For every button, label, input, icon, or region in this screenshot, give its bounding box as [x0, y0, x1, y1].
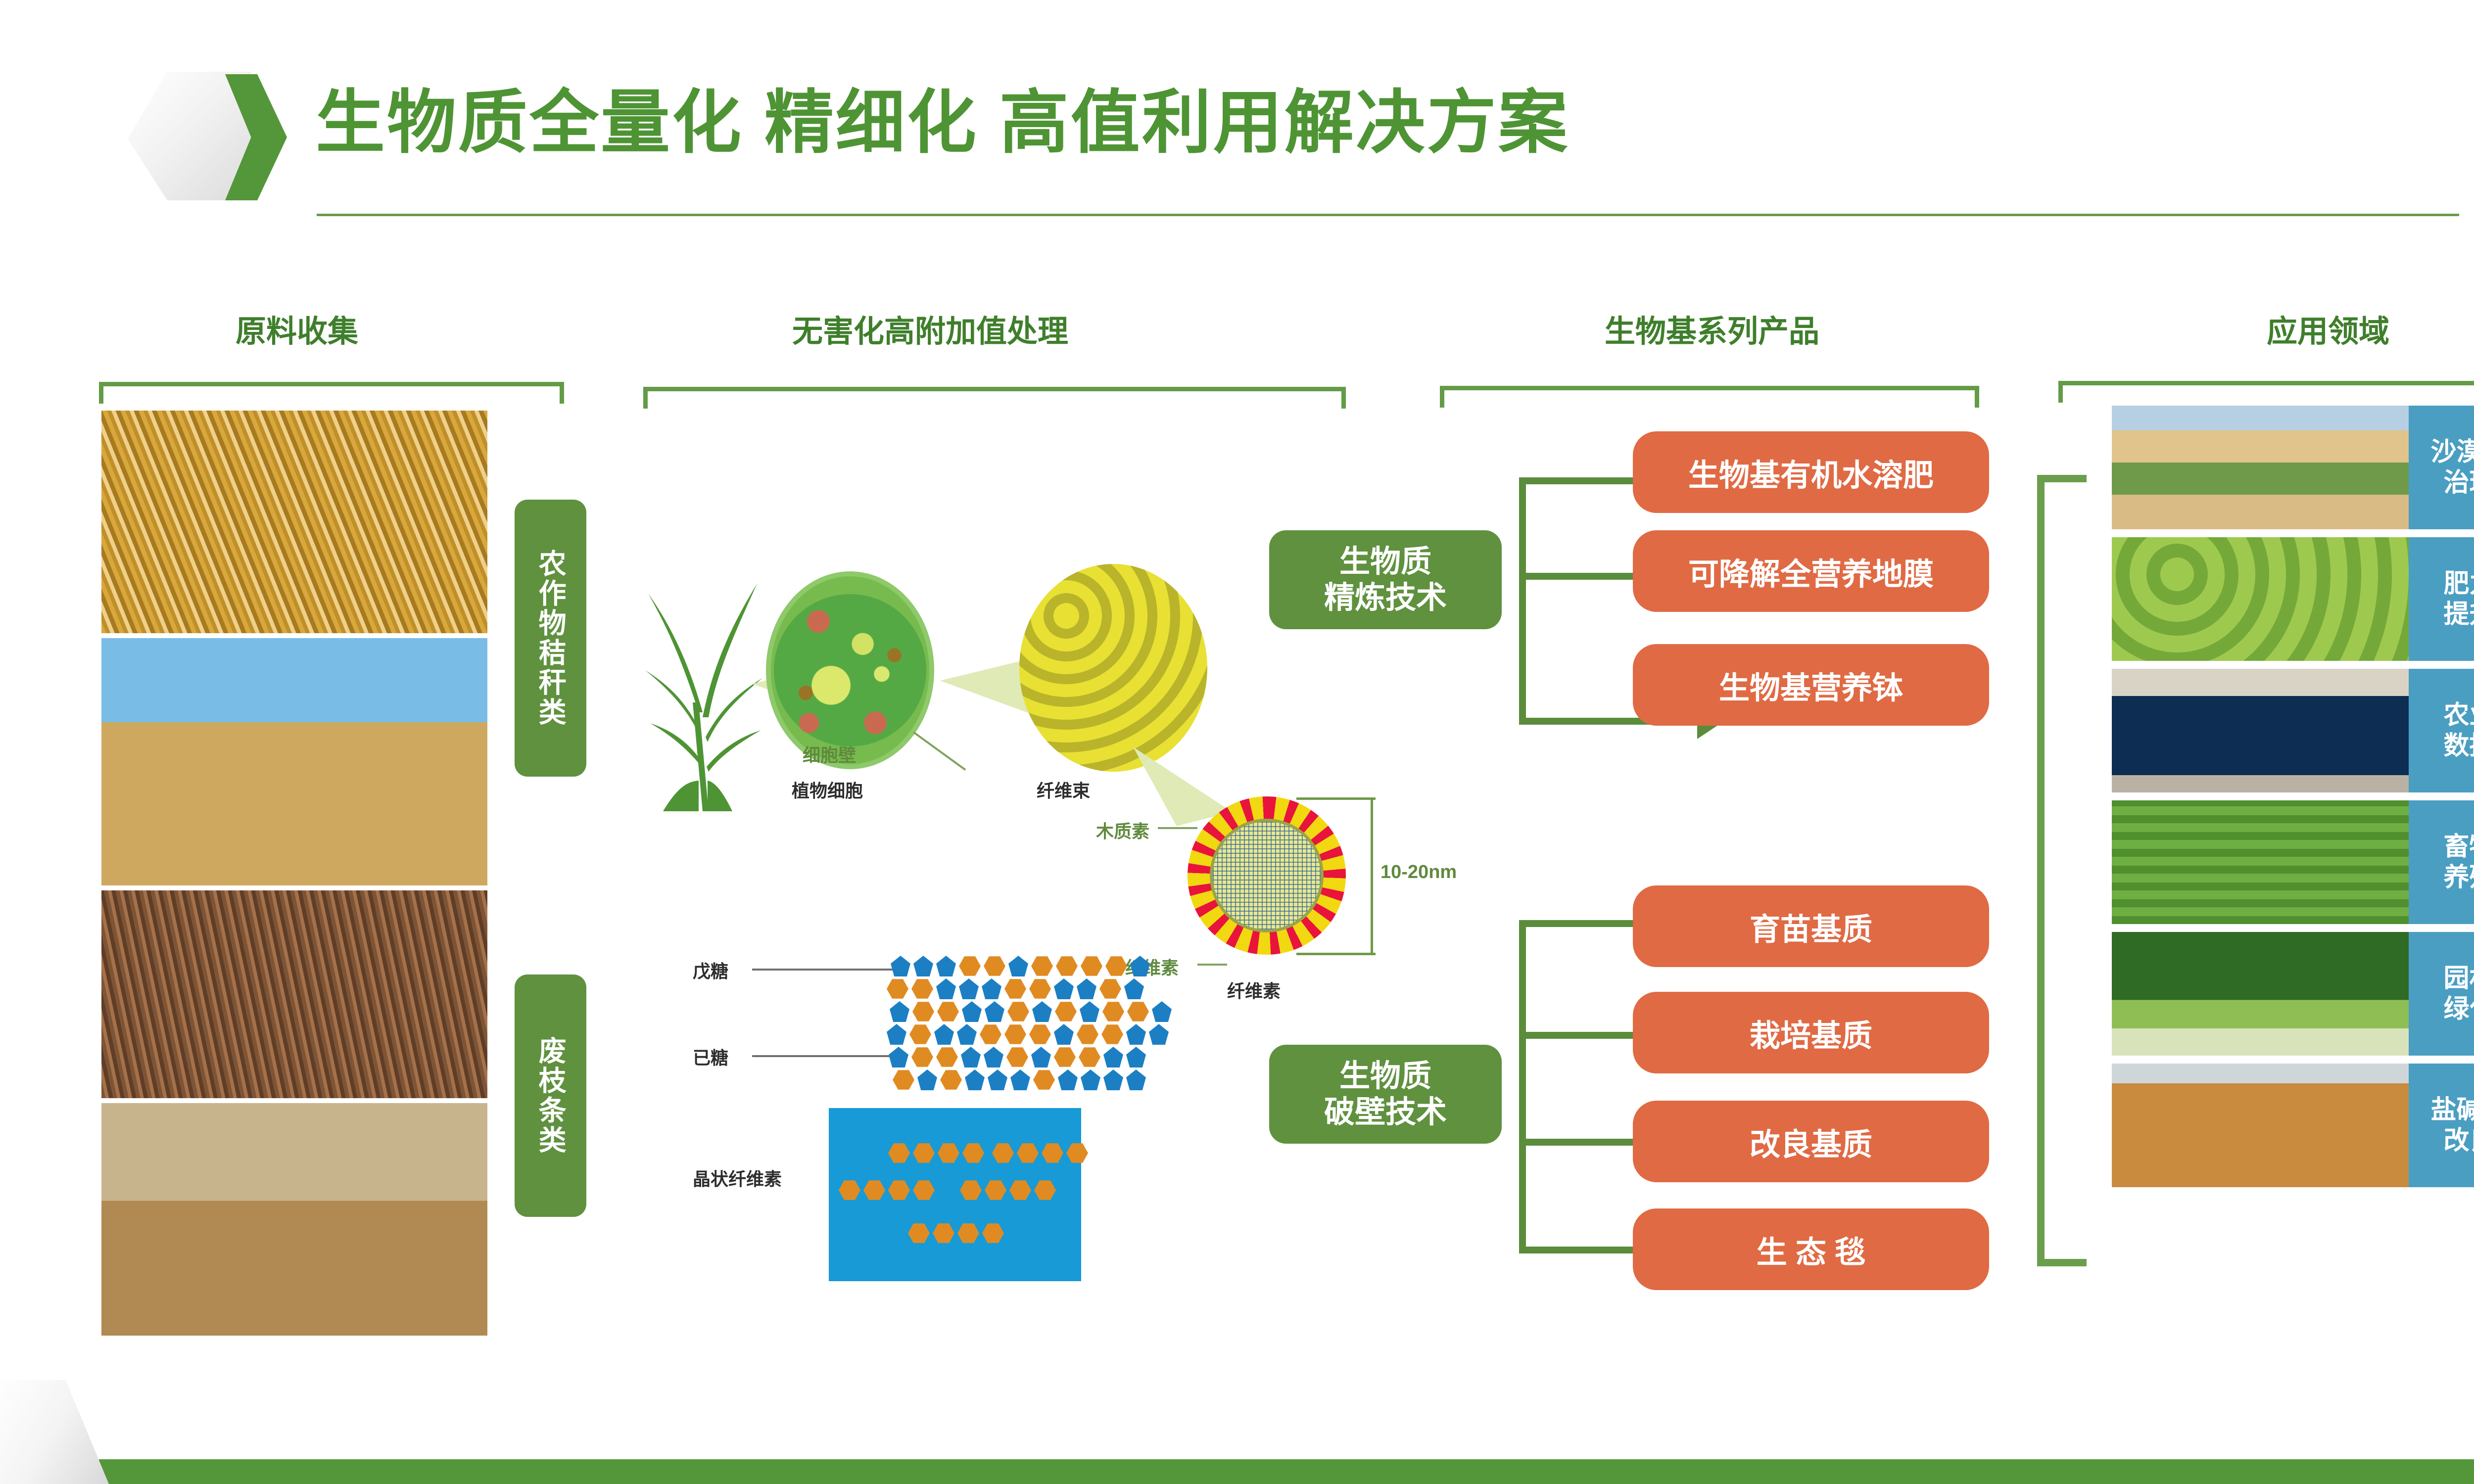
bracket-processing: [643, 387, 1346, 409]
crystalline-cellulose-diagram: [829, 1108, 1081, 1281]
app-label-line1: 沙漠化: [2430, 437, 2474, 467]
leader-line-lignin: [1158, 827, 1197, 829]
tech-label-line1: 生物质: [1339, 544, 1431, 580]
product-box-degradable-nutrient-mulch-film[interactable]: 可降解全营养地膜: [1633, 530, 1989, 612]
photo-straw-bale-field: [101, 638, 487, 885]
photo-agriculture-data-dashboard: [2112, 669, 2409, 792]
app-label-line2: 改良: [2443, 1125, 2474, 1156]
product-box-ecological-blanket[interactable]: 生 态 毯: [1633, 1208, 1989, 1290]
application-label-landscape-greening[interactable]: 园林 绿化: [2409, 932, 2474, 1056]
tech-label-line2: 精炼技术: [1324, 580, 1447, 616]
column-heading-raw-material-collection: 原料收集: [143, 317, 450, 347]
dimension-line: [1371, 797, 1373, 955]
fiber-bundle-illustration: [1019, 564, 1207, 772]
tech-box-biomass-refining[interactable]: 生物质 精炼技术: [1269, 530, 1502, 629]
bracket-raw-material: [99, 382, 564, 404]
photo-landscape-greening: [2112, 932, 2409, 1056]
sugar-chain-row: [891, 956, 1150, 976]
sugar-chain-row: [887, 1024, 1169, 1045]
column-heading-harmless-processing: 无害化高附加值处理: [505, 317, 1356, 347]
label-fiber-bundle: 纤维束: [1037, 777, 1090, 802]
app-label-line1: 园林: [2443, 963, 2474, 994]
infographic-canvas: 生物质全量化 精细化 高值利用解决方案 原料收集 无害化高附加值处理 生物基系列…: [0, 0, 2474, 1484]
product-box-bio-water-soluble-fertilizer[interactable]: 生物基有机水溶肥: [1633, 431, 1989, 513]
photo-desert-control-demo: [2112, 406, 2409, 529]
label-pentose: 戊糖: [693, 957, 728, 983]
bracket-products: [1440, 386, 1979, 408]
application-label-agricultural-data[interactable]: 农业 数据: [2409, 669, 2474, 792]
crystal-row: [839, 1180, 935, 1201]
label-cell-wall: 细胞壁: [803, 741, 856, 767]
application-label-saline-alkali-improvement[interactable]: 盐碱地 改良: [2409, 1064, 2474, 1187]
cellulose-microfibril-illustration: [1188, 796, 1346, 955]
column-heading-bio-based-products: 生物基系列产品: [1420, 317, 2004, 347]
label-hexose: 已糖: [693, 1044, 728, 1069]
app-label-line2: 数据: [2443, 731, 2474, 761]
material-category-waste-branches: 废枝条类: [515, 974, 586, 1217]
footer-wedge-decoration: [0, 1380, 109, 1484]
cellulose-core: [1210, 819, 1324, 932]
label-nano-dimension: 10-20nm: [1380, 862, 1457, 883]
photo-pruned-branches: [101, 890, 487, 1098]
title-underline-divider: [317, 214, 2459, 216]
photo-orchard-vine-prunings: [101, 1103, 487, 1336]
photo-cabbage-field: [2112, 537, 2409, 661]
leader-line-cell-wall: [913, 731, 966, 771]
tech-label-line2: 破壁技术: [1324, 1094, 1447, 1130]
product-box-seedling-substrate[interactable]: 育苗基质: [1633, 885, 1989, 967]
label-crystalline-cellulose: 晶状纤维素: [693, 1165, 782, 1191]
app-label-line1: 肥力: [2443, 568, 2474, 599]
app-label-line1: 农业: [2443, 700, 2474, 731]
tech-label-line1: 生物质: [1339, 1058, 1431, 1094]
photo-grazing-sheep-pasture: [2112, 800, 2409, 924]
product-box-improvement-substrate[interactable]: 改良基质: [1633, 1101, 1989, 1182]
leader-line-pentose: [752, 969, 893, 971]
product-box-cultivation-substrate[interactable]: 栽培基质: [1633, 992, 1989, 1073]
plant-illustration-icon: [633, 554, 772, 811]
product-box-bio-nutrition-pot[interactable]: 生物基营养钵: [1633, 644, 1989, 726]
application-label-desertification-control[interactable]: 沙漠化 治理: [2409, 406, 2474, 529]
page-title: 生物质全量化 精细化 高值利用解决方案: [316, 88, 1570, 157]
column-heading-application-fields: 应用领域: [2068, 317, 2474, 347]
photo-corn-stalk-field: [101, 411, 487, 633]
label-plant-cell: 植物细胞: [792, 777, 863, 802]
footer-green-bar: [99, 1459, 2474, 1484]
crystal-row: [960, 1180, 1056, 1201]
app-label-line2: 治理: [2443, 467, 2474, 498]
sugar-chain-row: [893, 1069, 1146, 1090]
dimension-tick-bottom: [1296, 953, 1376, 955]
application-label-livestock-breeding[interactable]: 畜牧 养殖: [2409, 800, 2474, 924]
photo-saline-alkali-land: [2112, 1064, 2409, 1187]
app-label-line1: 盐碱地: [2430, 1095, 2474, 1125]
crystal-row: [908, 1223, 1004, 1244]
bracket-applications: [2058, 381, 2474, 403]
label-lignin: 木质素: [1096, 817, 1149, 843]
dimension-tick-top: [1296, 797, 1376, 800]
bracket-to-applications: [2037, 475, 2087, 1266]
app-label-line2: 绿化: [2443, 994, 2474, 1024]
sugar-chain-row: [890, 1001, 1172, 1022]
app-label-line2: 养殖: [2443, 862, 2474, 893]
label-cellulose: 纤维素: [1227, 977, 1281, 1003]
app-label-line1: 畜牧: [2443, 832, 2474, 862]
sugar-chain-row: [887, 978, 1144, 999]
arrow-trunk-refining: [1519, 477, 1526, 725]
material-category-crop-straw: 农作物秸秆类: [515, 500, 586, 777]
tech-box-biomass-cell-wall-breaking[interactable]: 生物质 破壁技术: [1269, 1045, 1502, 1144]
crystal-row: [992, 1143, 1088, 1163]
sugar-chain-row: [889, 1047, 1146, 1067]
crystal-row: [888, 1143, 984, 1163]
application-label-fertility-improvement[interactable]: 肥力 提升: [2409, 537, 2474, 661]
plant-cell-illustration: [766, 571, 934, 769]
app-label-line2: 提升: [2443, 599, 2474, 630]
leader-line-hemicellulose: [1197, 964, 1227, 966]
leader-line-hexose: [752, 1055, 893, 1057]
arrow-trunk-breaking: [1519, 920, 1526, 1247]
